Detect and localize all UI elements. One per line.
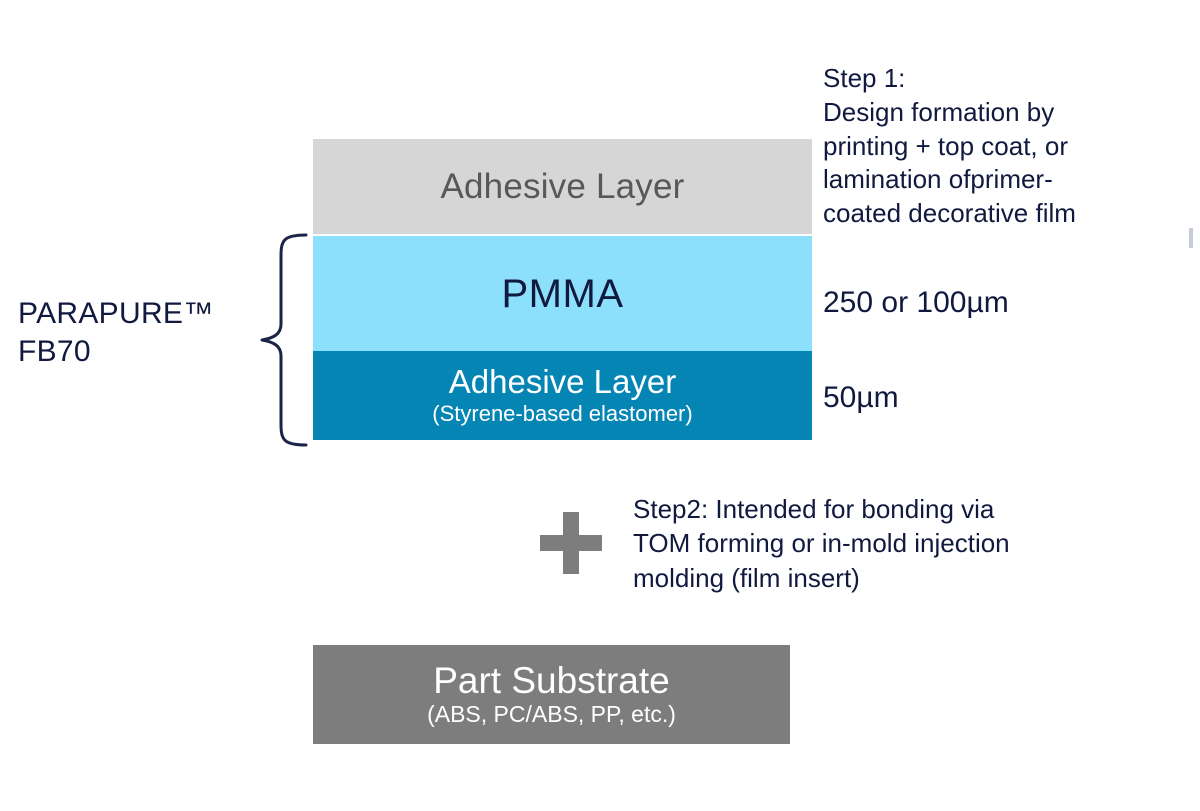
layer-pmma: PMMA bbox=[313, 236, 812, 351]
layer-adhesive-bottom-title: Adhesive Layer bbox=[449, 365, 676, 400]
plus-icon bbox=[540, 512, 602, 574]
cropped-edge-artifact bbox=[1189, 228, 1193, 248]
layer-adhesive-bottom: Adhesive Layer (Styrene-based elastomer) bbox=[313, 351, 812, 440]
substrate-block: Part Substrate (ABS, PC/ABS, PP, etc.) bbox=[313, 645, 790, 744]
substrate-title: Part Substrate bbox=[433, 662, 670, 701]
substrate-subtitle: (ABS, PC/ABS, PP, etc.) bbox=[427, 702, 676, 727]
layer-adhesive-top-title: Adhesive Layer bbox=[440, 169, 684, 204]
step2-annotation: Step2: Intended for bonding via TOM form… bbox=[633, 492, 1153, 595]
thickness-label-pmma: 250 or 100µm bbox=[823, 288, 1009, 318]
step1-annotation: Step 1: Design formation by printing + t… bbox=[823, 62, 1183, 231]
brand-label: PARAPURE™ FB70 bbox=[18, 295, 214, 372]
thickness-label-adhesive-bottom: 50µm bbox=[823, 383, 899, 413]
layer-pmma-title: PMMA bbox=[502, 274, 624, 314]
diagram-canvas: PARAPURE™ FB70 Adhesive Layer PMMA Adhes… bbox=[0, 0, 1200, 811]
layer-adhesive-bottom-subtitle: (Styrene-based elastomer) bbox=[432, 402, 692, 426]
curly-brace-icon bbox=[250, 230, 312, 450]
layer-adhesive-top: Adhesive Layer bbox=[313, 139, 812, 234]
